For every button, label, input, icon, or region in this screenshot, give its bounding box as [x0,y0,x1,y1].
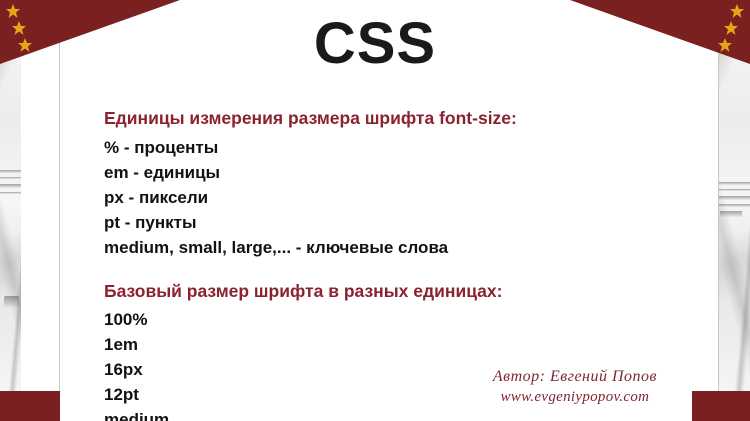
marble-streak [718,204,750,207]
section-heading: Единицы измерения размера шрифта font-si… [104,110,664,128]
marble-streak [0,177,21,179]
list-item: % - проценты [104,135,664,160]
marble-streak [718,196,750,200]
section-font-size-units: Единицы измерения размера шрифта font-si… [104,110,664,260]
marble-streak [0,170,21,173]
bottom-left-maroon-block [0,391,60,421]
marble-streak [718,182,750,185]
presentation-slide: CSS Единицы измерения размера шрифта fon… [0,0,750,421]
list-item: pt - пункты [104,210,664,235]
section-heading: Базовый размер шрифта в разных единицах: [104,283,664,301]
list-item: 1em [104,332,664,357]
right-border-rule [718,42,719,421]
list-item: em - единицы [104,160,664,185]
marble-streak [718,189,750,191]
list-item: medium, small, large,... - ключевые слов… [104,235,664,260]
marble-streak [720,211,742,217]
marble-streak [4,296,19,307]
section-spacer [104,260,664,283]
marble-streak [0,184,21,188]
marble-streak [0,192,21,194]
author-website-url: www.evgeniypopov.com [493,387,657,407]
list-item: medium [104,407,664,421]
font-size-units-list: % - проценты em - единицы px - пиксели p… [104,135,664,260]
slide-title: CSS [0,14,750,75]
author-name: Автор: Евгений Попов [493,367,657,387]
list-item: px - пиксели [104,185,664,210]
list-item: 100% [104,307,664,332]
left-border-rule [59,42,60,421]
bottom-right-maroon-block [692,391,750,421]
author-signature: Автор: Евгений Попов www.evgeniypopov.co… [493,367,657,407]
